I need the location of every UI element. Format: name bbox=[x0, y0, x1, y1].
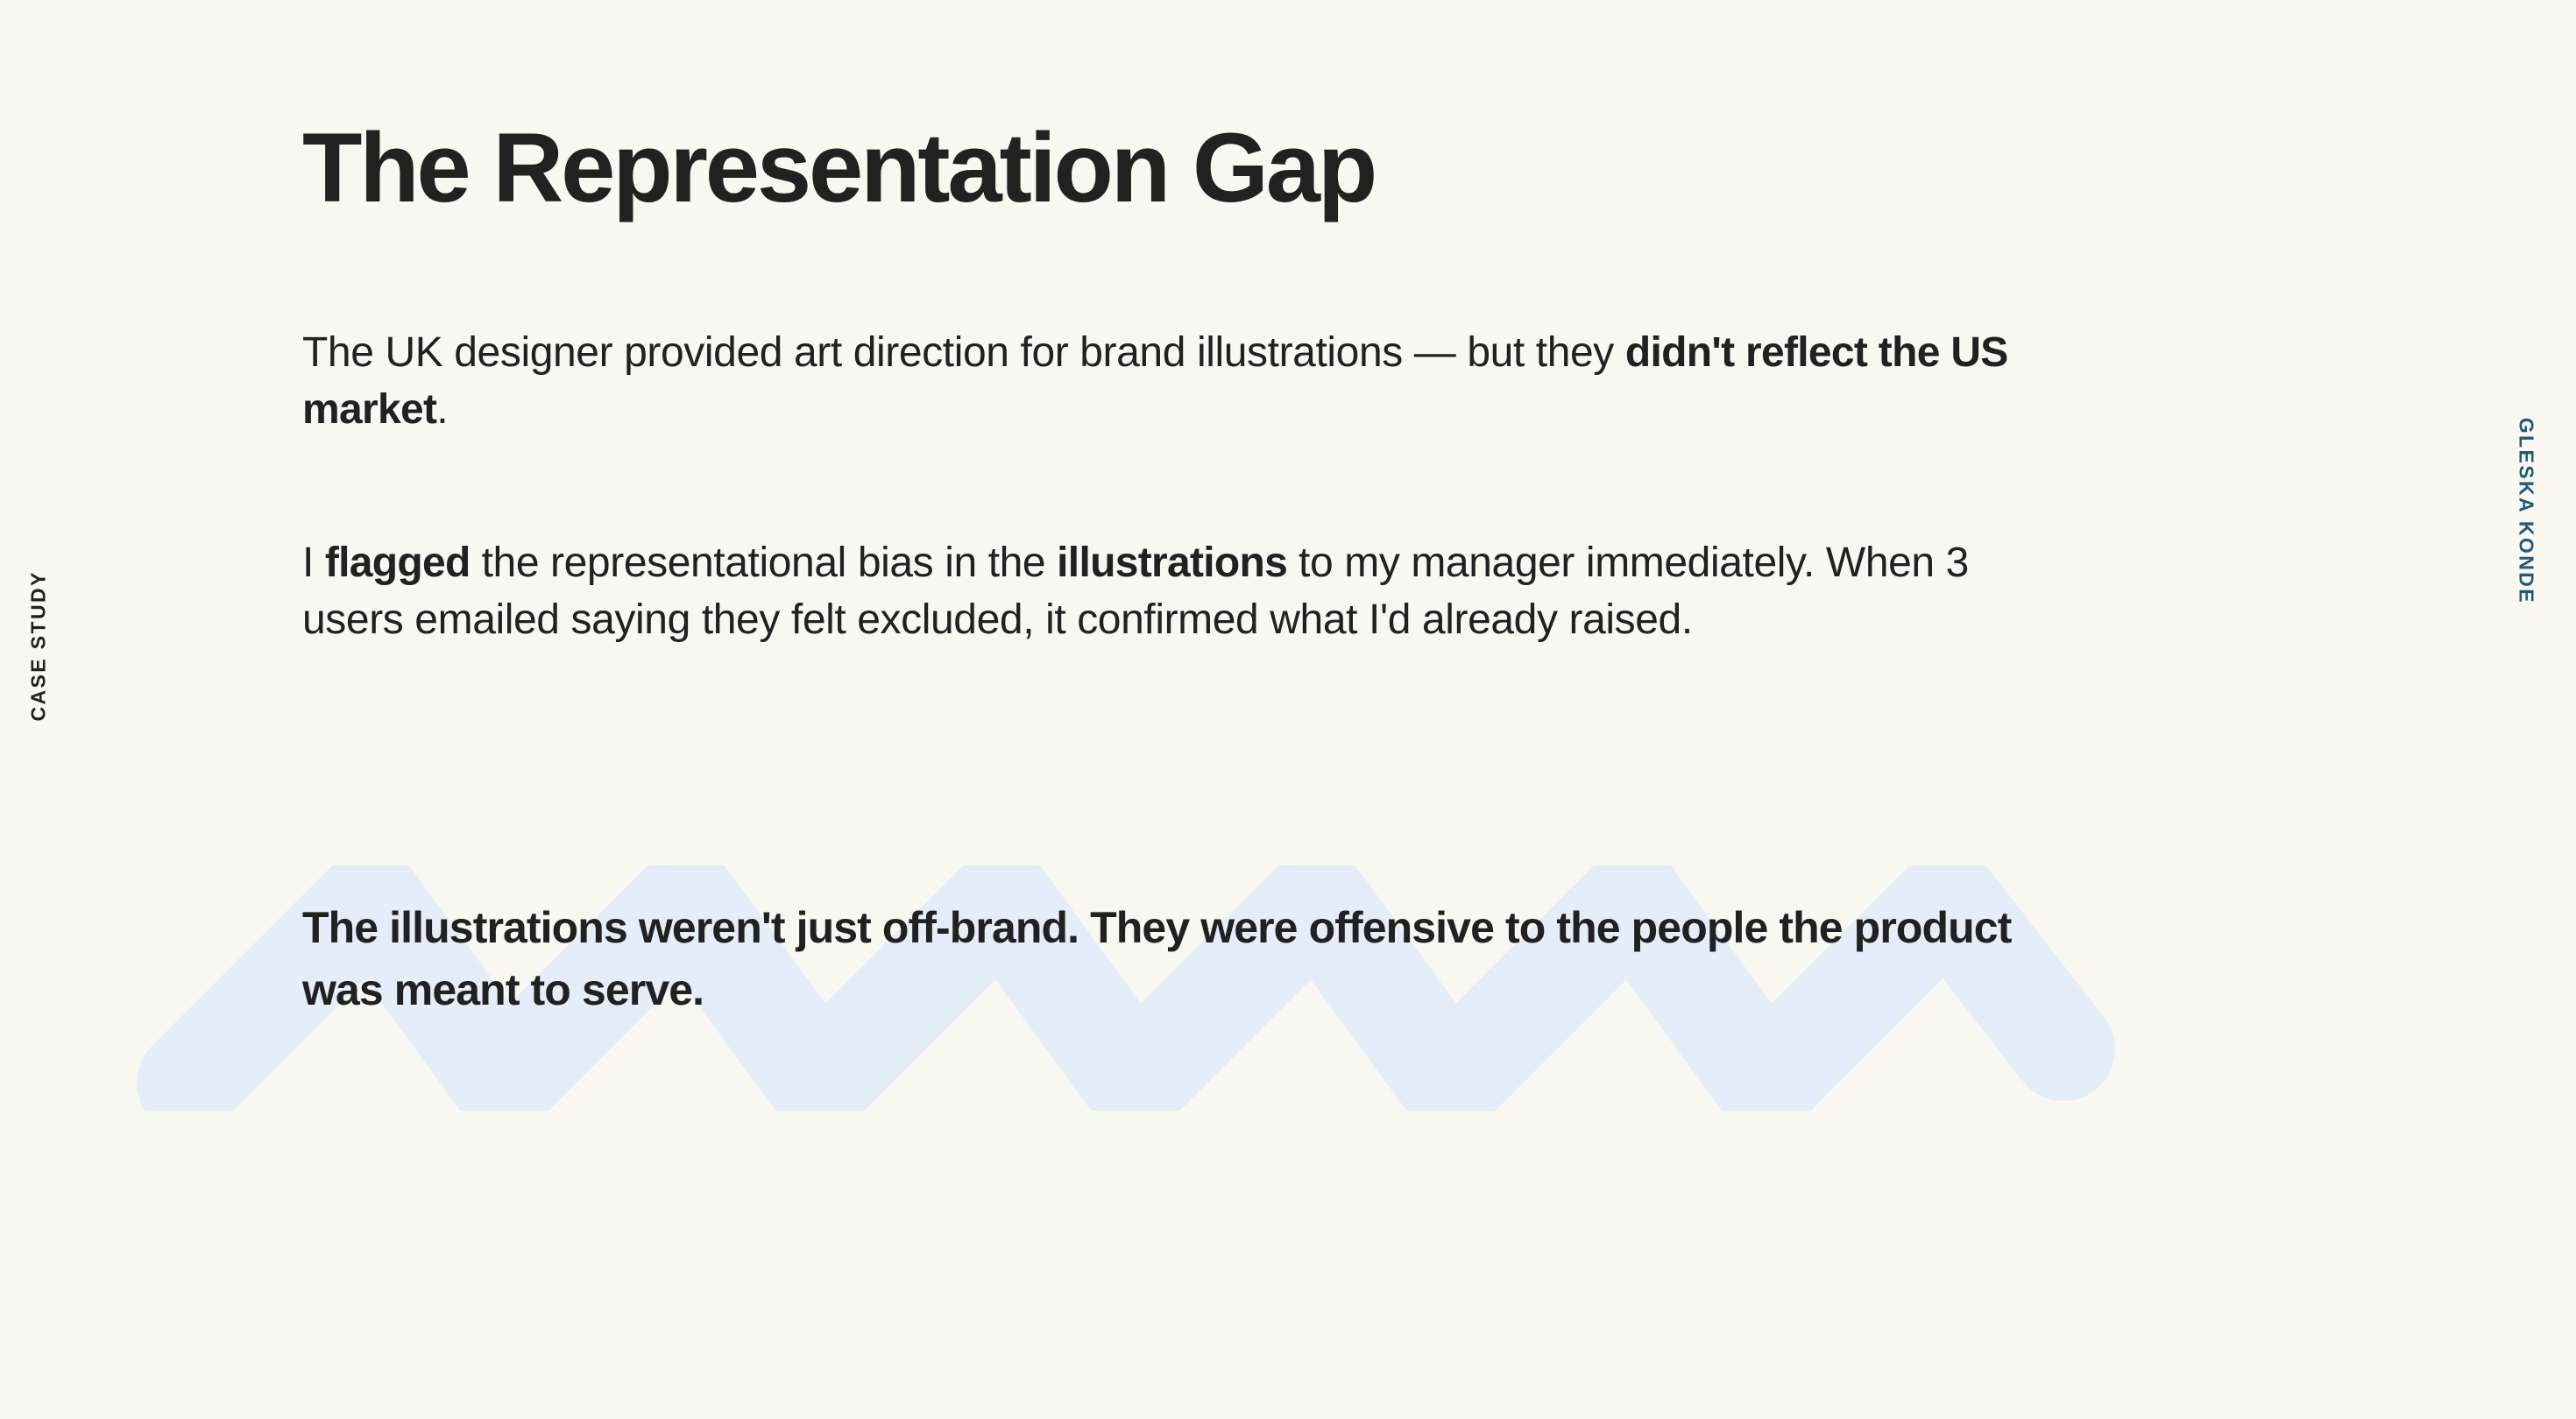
callout-block: The illustrations weren't just off-brand… bbox=[302, 876, 2107, 1104]
callout-text: The illustrations weren't just off-brand… bbox=[302, 897, 2020, 1021]
slide-label-case-study: CASE STUDY bbox=[27, 570, 51, 721]
emphasis-text: flagged bbox=[325, 540, 471, 586]
emphasis-text: illustrations bbox=[1057, 540, 1287, 586]
page-title: The Representation Gap bbox=[302, 119, 1375, 217]
body-paragraph-2: I flagged the representational bias in t… bbox=[302, 534, 2063, 649]
plain-text: . bbox=[436, 386, 448, 433]
slide-content: The Representation Gap The UK designer p… bbox=[302, 0, 2107, 1419]
plain-text: The UK designer provided art direction f… bbox=[302, 329, 1625, 376]
slide-label-author: GLESKA KONDE bbox=[2514, 418, 2537, 604]
plain-text: I bbox=[302, 540, 325, 586]
slide-canvas: CASE STUDY GLESKA KONDE The Representati… bbox=[0, 0, 2576, 1419]
plain-text: the representational bias in the bbox=[471, 540, 1058, 586]
body-paragraph-1: The UK designer provided art direction f… bbox=[302, 324, 2063, 439]
